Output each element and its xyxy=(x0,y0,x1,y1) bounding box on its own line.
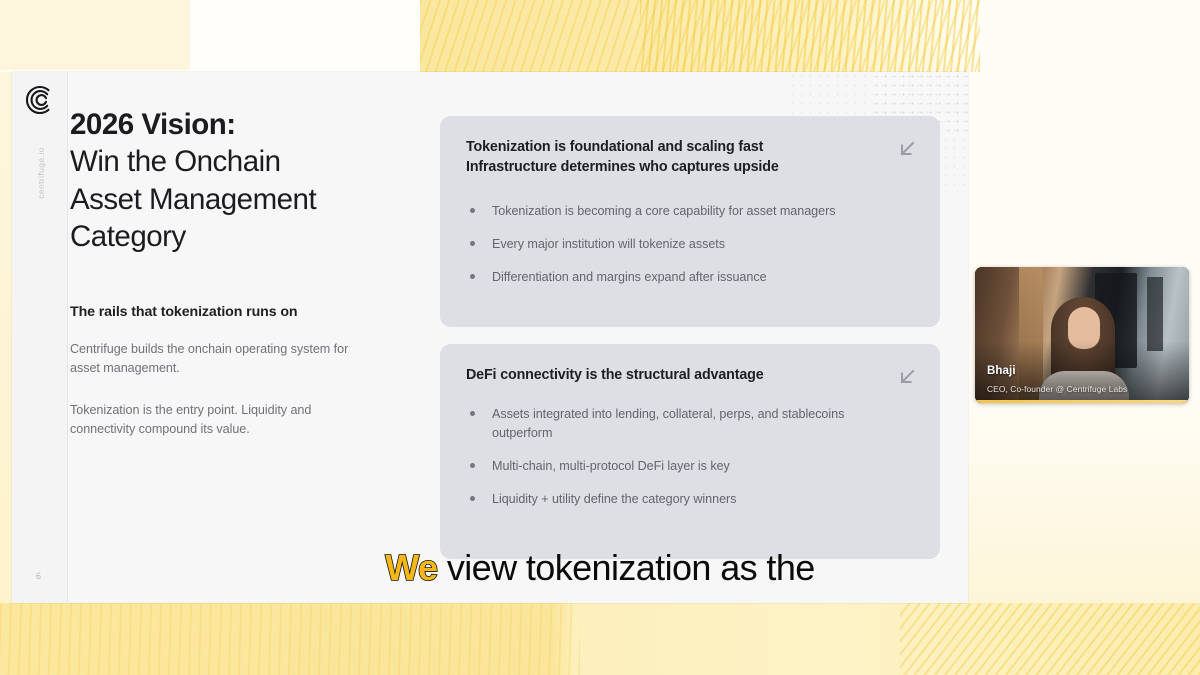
list-item: Liquidity + utility define the category … xyxy=(466,490,892,508)
speaker-role: CEO, Co-founder @ Centrifuge Labs xyxy=(987,384,1127,394)
bullet-dot-icon xyxy=(470,208,475,213)
bullet-text: Assets integrated into lending, collater… xyxy=(492,407,844,439)
slide-left-column: 2026 Vision: Win the Onchain Asset Manag… xyxy=(70,106,430,451)
slide-subheading: The rails that tokenization runs on xyxy=(70,304,430,320)
list-item: Differentiation and margins expand after… xyxy=(466,268,892,286)
caption-rest: view tokenization as the xyxy=(437,547,814,588)
slide-title: 2026 Vision: Win the Onchain Asset Manag… xyxy=(70,106,430,255)
bullet-dot-icon xyxy=(470,241,475,246)
title-line-4: Category xyxy=(70,220,186,253)
content-card-tokenization: Tokenization is foundational and scaling… xyxy=(440,116,940,327)
bullet-text: Liquidity + utility define the category … xyxy=(492,492,736,506)
presentation-slide: centrifuge.io 6 2026 Vision: Win the Onc… xyxy=(12,72,968,603)
slide-paragraph-1: Centrifuge builds the onchain operating … xyxy=(70,340,350,378)
bullet-text: Tokenization is becoming a core capabili… xyxy=(492,204,835,218)
centrifuge-logo-icon xyxy=(25,84,57,116)
card2-heading-line-1: DeFi connectivity is the structural adva… xyxy=(466,367,764,383)
speaker-name: Bhaji xyxy=(987,365,1016,377)
list-item: Assets integrated into lending, collater… xyxy=(466,405,892,442)
content-card-defi: DeFi connectivity is the structural adva… xyxy=(440,344,940,559)
title-line-1: 2026 Vision: xyxy=(70,108,236,141)
scene-window-2 xyxy=(1147,277,1163,351)
bullet-dot-icon xyxy=(470,463,475,468)
bullet-dot-icon xyxy=(470,411,475,416)
list-item: Multi-chain, multi-protocol DeFi layer i… xyxy=(466,457,892,475)
sunburst-rays-bottom-left xyxy=(0,603,580,675)
title-line-3: Asset Management xyxy=(70,183,316,216)
speaker-video-thumbnail[interactable]: Bhaji CEO, Co-founder @ Centrifuge Labs xyxy=(975,267,1189,403)
arrow-down-left-icon xyxy=(896,366,918,388)
card2-bullet-list: Assets integrated into lending, collater… xyxy=(466,405,914,508)
slide-paragraph-2: Tokenization is the entry point. Liquidi… xyxy=(70,401,350,439)
card1-heading-line-2: Infrastructure determines who captures u… xyxy=(466,159,779,175)
background-block-top-right xyxy=(980,0,1200,72)
brand-rail: centrifuge.io 6 xyxy=(12,72,68,603)
sunburst-rays-top-dense xyxy=(640,0,990,72)
title-line-2: Win the Onchain xyxy=(70,145,281,178)
card1-bullet-list: Tokenization is becoming a core capabili… xyxy=(466,202,914,287)
arrow-down-left-icon xyxy=(896,138,918,160)
bullet-text: Differentiation and margins expand after… xyxy=(492,270,767,284)
subtitle-caption: We view tokenization as the xyxy=(0,550,1200,586)
card1-heading-line-1: Tokenization is foundational and scaling… xyxy=(466,139,763,155)
caption-highlight-word: We xyxy=(385,547,437,588)
bullet-text: Multi-chain, multi-protocol DeFi layer i… xyxy=(492,459,730,473)
background-left-edge xyxy=(0,72,12,603)
bullet-dot-icon xyxy=(470,274,475,279)
sunburst-rays-bottom-right xyxy=(900,603,1200,675)
accent-bar xyxy=(975,400,1189,403)
card-heading: Tokenization is foundational and scaling… xyxy=(466,137,914,178)
list-item: Tokenization is becoming a core capabili… xyxy=(466,202,892,220)
background-block-top-middle xyxy=(190,0,420,72)
bullet-dot-icon xyxy=(470,496,475,501)
bullet-text: Every major institution will tokenize as… xyxy=(492,237,725,251)
card-heading: DeFi connectivity is the structural adva… xyxy=(466,365,914,385)
brand-url-vertical: centrifuge.io xyxy=(36,128,46,218)
list-item: Every major institution will tokenize as… xyxy=(466,235,892,253)
background-block-top-left xyxy=(0,0,190,70)
